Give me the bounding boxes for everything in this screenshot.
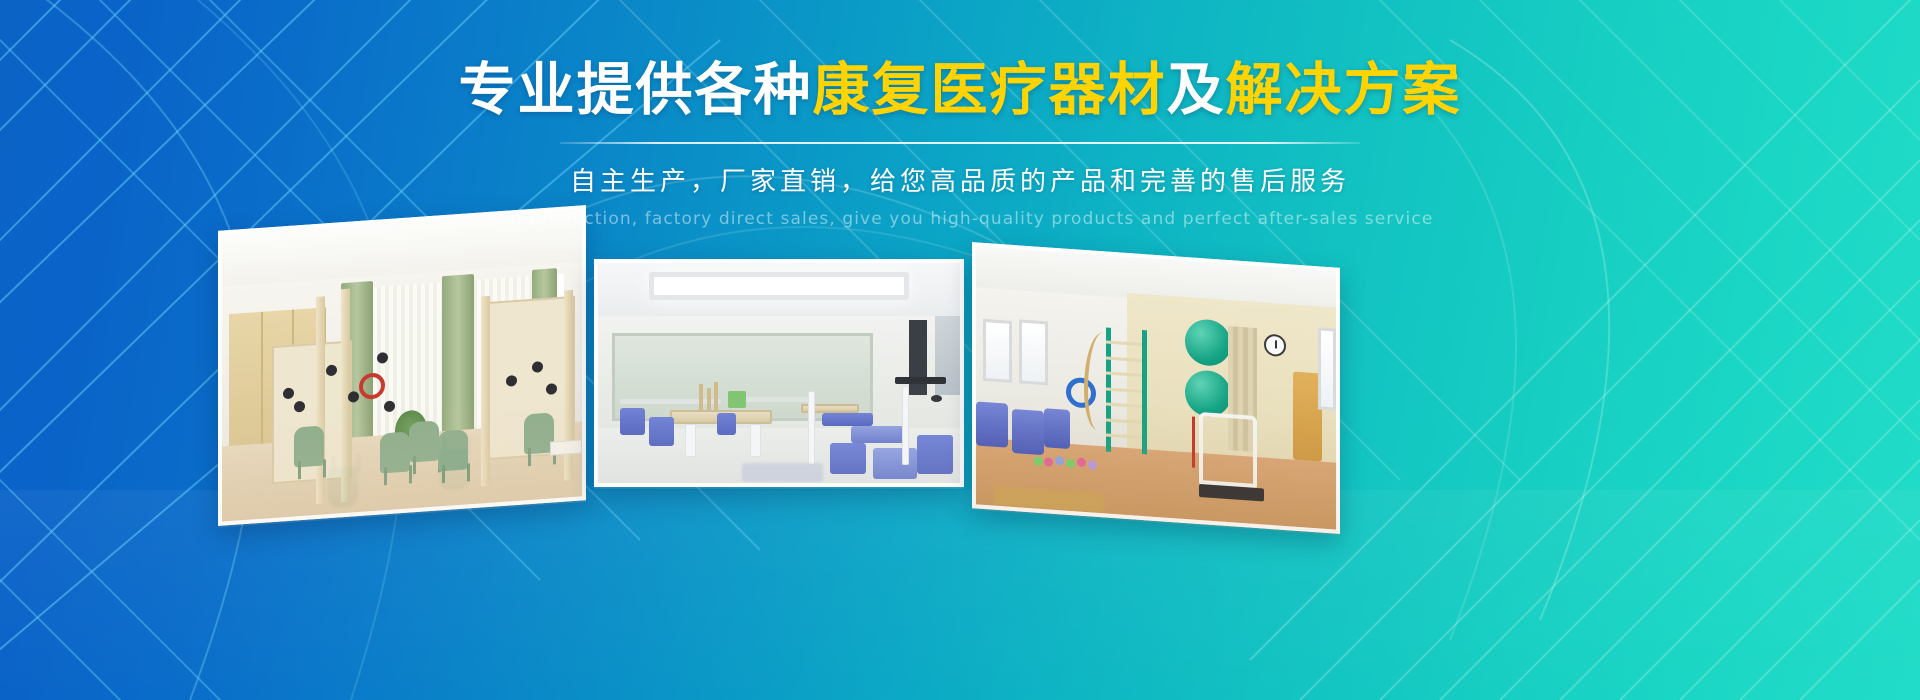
headline-part-2: 康复医疗器材: [813, 57, 1167, 123]
headline: 专业提供各种康复医疗器材及解决方案: [0, 60, 1920, 122]
headline-part-3: 及: [1167, 57, 1226, 123]
headline-part-4: 解决方案: [1226, 57, 1462, 123]
headline-part-1: 专业提供各种: [459, 57, 813, 123]
subtitle-chinese: 自主生产，厂家直销，给您高品质的产品和完善的售后服务: [0, 161, 1920, 198]
subtitle-english: Self production, factory direct sales, g…: [0, 209, 1920, 229]
banner-text-block: 专业提供各种康复医疗器材及解决方案 自主生产，厂家直销，给您高品质的产品和完善的…: [0, 60, 1920, 229]
headline-divider: [560, 142, 1360, 144]
promo-banner: 专业提供各种康复医疗器材及解决方案 自主生产，厂家直销，给您高品质的产品和完善的…: [0, 0, 1920, 700]
photo-therapy-hall-blue-equipment: [594, 259, 964, 487]
photo-gym-green-balls: [972, 242, 1340, 534]
photo-rehab-room-green-curtains: [218, 205, 586, 526]
